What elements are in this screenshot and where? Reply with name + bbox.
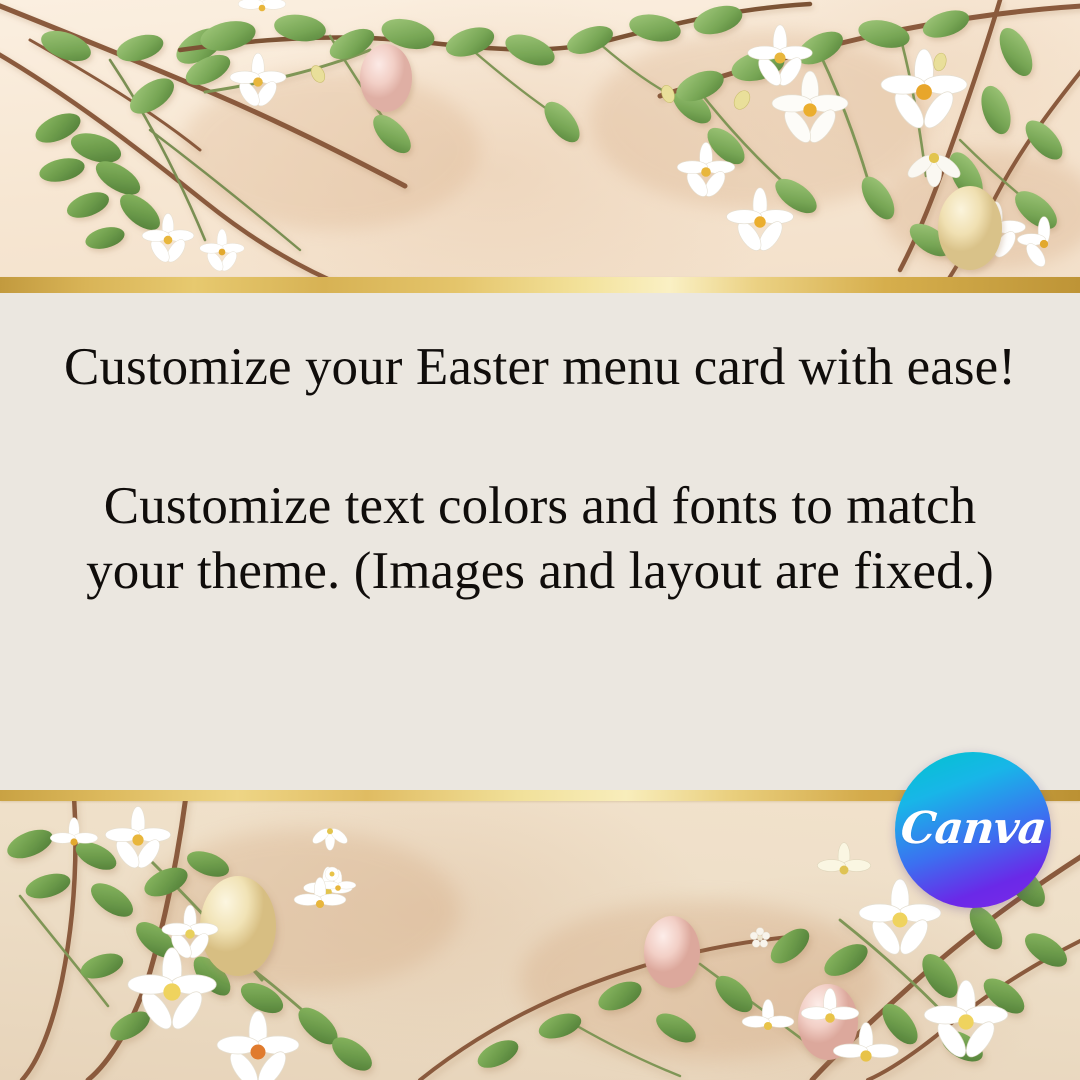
body-text: Customize text colors and fonts to match… [60,474,1020,604]
easter-menu-card-canvas: Customize your Easter menu card with eas… [0,0,1080,1080]
egg-pink-bottom-left [644,916,700,988]
floral-branches-top [0,0,1080,280]
canva-logo-label: Canva [898,803,1048,854]
flower-cluster-bottom [50,806,1008,1080]
gold-divider-top [0,277,1080,294]
canva-logo-badge[interactable]: Canva [895,752,1051,908]
egg-pink-top [360,44,412,112]
egg-cream-top-right [938,186,1002,270]
headline-text: Customize your Easter menu card with eas… [60,335,1020,400]
text-panel: Customize your Easter menu card with eas… [0,293,1080,790]
